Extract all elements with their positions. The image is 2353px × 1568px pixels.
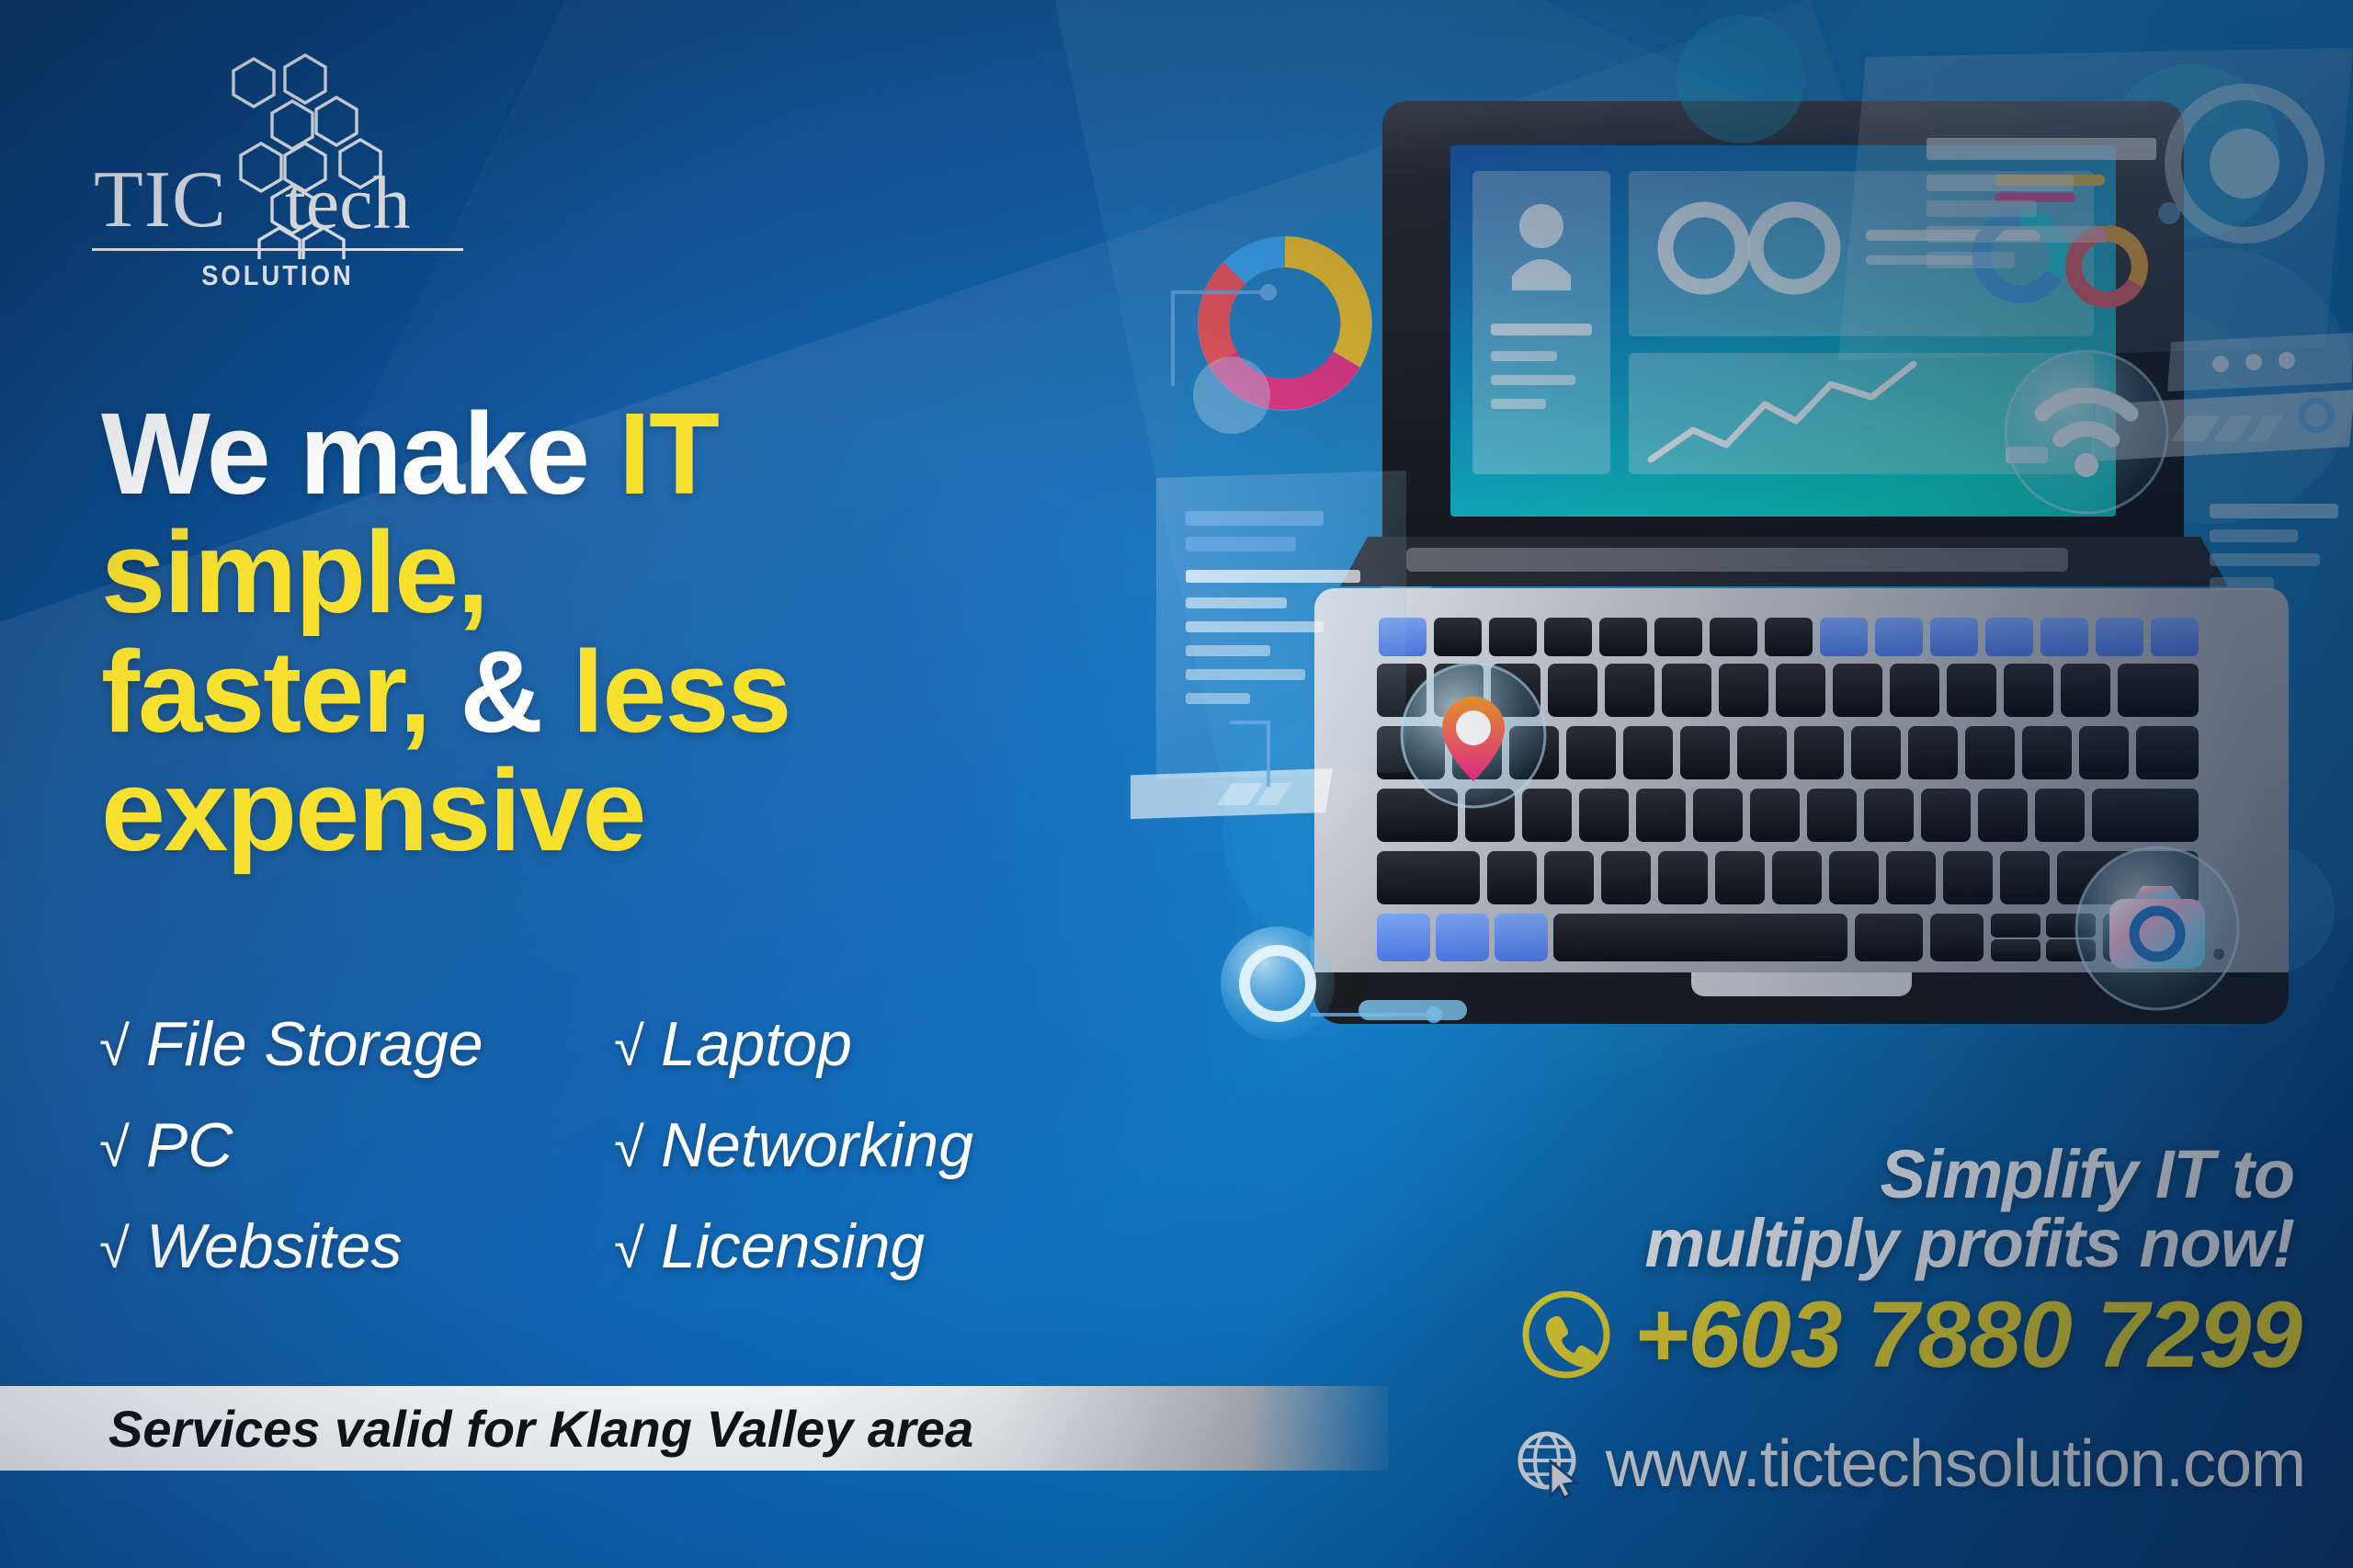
service-area-text: Services valid for Klang Valley area — [108, 1399, 973, 1459]
check-icon: √ — [614, 1120, 644, 1176]
feature-label: Laptop — [661, 1013, 852, 1075]
headline-part-less: less — [572, 627, 790, 756]
feature-label: File Storage — [146, 1013, 483, 1075]
headline-part-we-make: We make — [101, 389, 619, 518]
laptop-dashboard-illustration — [1131, 0, 2353, 1222]
logo-text-primary: TIC — [94, 160, 227, 241]
globe-cursor-icon[interactable] — [1514, 1428, 1586, 1500]
feature-list: √ File Storage √ Laptop √ PC √ Networkin… — [99, 1013, 1184, 1278]
check-icon: √ — [99, 1221, 130, 1277]
feature-label: Licensing — [661, 1215, 925, 1278]
location-pin-icon — [1402, 664, 1545, 807]
website-contact[interactable]: www.tictechsolution.com — [1514, 1428, 2305, 1500]
service-area-banner: Services valid for Klang Valley area — [0, 1386, 1388, 1471]
phone-contact[interactable]: +603 7880 7299 — [1518, 1287, 2302, 1382]
feature-item-laptop: √ Laptop — [614, 1013, 1092, 1075]
website-url[interactable]: www.tictechsolution.com — [1606, 1431, 2305, 1497]
phone-circle-icon[interactable] — [1518, 1287, 1614, 1382]
wifi-icon — [2006, 351, 2167, 513]
check-icon: √ — [99, 1019, 130, 1074]
check-icon: √ — [614, 1221, 644, 1277]
poster-canvas: TIC tech SOLUTION We make IT simple, fas… — [0, 0, 2353, 1568]
headline-line-1: We make IT — [101, 397, 1186, 510]
logo-subtitle: SOLUTION — [108, 259, 448, 292]
cta-block: Simplify IT to multiply profits now! — [1311, 1140, 2294, 1278]
check-icon: √ — [99, 1120, 130, 1176]
logo-text-secondary: tech — [285, 165, 411, 241]
feature-label: Networking — [661, 1114, 973, 1176]
headline-line-3: faster, & less — [101, 635, 1186, 748]
phone-number[interactable]: +603 7880 7299 — [1634, 1288, 2302, 1381]
feature-item-pc: √ PC — [99, 1114, 596, 1176]
logo-divider — [92, 248, 463, 251]
headline-line-2: simple, — [101, 516, 1186, 629]
headline-part-simple: simple, — [101, 507, 487, 637]
brand-logo: TIC tech SOLUTION — [85, 48, 471, 241]
headline-part-expensive: expensive — [101, 745, 644, 875]
feature-item-websites: √ Websites — [99, 1215, 596, 1278]
feature-item-licensing: √ Licensing — [614, 1215, 1092, 1278]
feature-item-file-storage: √ File Storage — [99, 1013, 596, 1075]
check-icon: √ — [614, 1019, 644, 1074]
cta-line-2: multiply profits now! — [1311, 1209, 2294, 1278]
cta-line-1: Simplify IT to — [1311, 1140, 2294, 1209]
feature-label: PC — [146, 1114, 233, 1176]
headline: We make IT simple, faster, & less expens… — [101, 397, 1186, 873]
headline-part-faster: faster, — [101, 627, 429, 756]
feature-label: Websites — [146, 1215, 402, 1278]
headline-line-4: expensive — [101, 754, 1186, 867]
headline-part-it: IT — [619, 389, 718, 518]
camera-icon — [2076, 847, 2238, 1009]
headline-part-amp: & — [429, 627, 572, 756]
feature-item-networking: √ Networking — [614, 1114, 1092, 1176]
